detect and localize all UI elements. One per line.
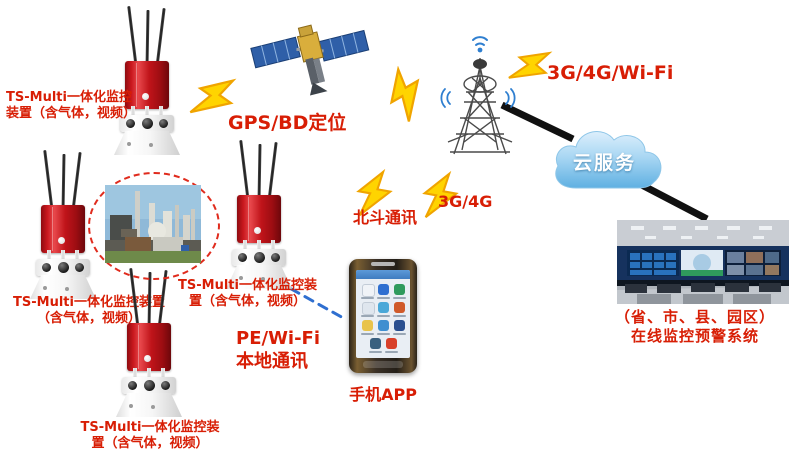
diagram-canvas: TS-Multi一体化监控 装置（含气体，视频） TS-Multi一体化监控装置… [0, 0, 797, 464]
app-label [361, 297, 374, 299]
device-top-left-label-line2: 装置（含气体，视频） [6, 106, 136, 122]
antenna-icon [147, 272, 151, 330]
device-mid-center-label-line1: TS-Multi一体化监控装 [160, 278, 335, 294]
satellite-icon [248, 12, 374, 96]
speaker-grille [371, 262, 395, 266]
control-room-label-line2: 在线监控预警系统 [600, 327, 790, 346]
antenna-icon [127, 6, 138, 68]
device-bottom-left [108, 268, 186, 416]
cloud-service-label: 云服务 [573, 148, 636, 175]
app-label [393, 315, 406, 317]
base-port [149, 143, 153, 147]
antenna-icon [257, 144, 261, 202]
app-icon[interactable] [370, 338, 381, 349]
app-icon[interactable] [362, 320, 373, 331]
sensor-lens [159, 119, 168, 128]
handheld-label: 手机APP [330, 385, 436, 405]
device-base [114, 131, 180, 155]
device-mid-center-label-line2: 置（含气体，视频） [160, 294, 335, 310]
base-port [127, 142, 131, 146]
app-label [393, 297, 406, 299]
camera-lens [254, 252, 265, 263]
housing-seam [52, 207, 53, 251]
device-mid-center [218, 140, 296, 288]
app-label [377, 333, 390, 335]
base-port [151, 405, 155, 409]
plant-photo [105, 185, 201, 263]
app-label [377, 315, 390, 317]
app-icon[interactable] [386, 338, 397, 349]
screen-statusbar [356, 270, 410, 279]
device-top-left-label-line1: TS-Multi一体化监控 [6, 90, 136, 106]
antenna-icon [61, 154, 65, 212]
wireless-link-label: 3G/4G/Wi-Fi [547, 62, 673, 86]
gps-link-label: GPS/BD定位 [228, 112, 346, 136]
antenna-icon [155, 8, 165, 68]
housing-seam [138, 325, 139, 369]
antenna-icon [267, 142, 277, 202]
app-icon[interactable] [394, 284, 405, 295]
mobile-link-label: 3G/4G [438, 192, 492, 212]
local-link-label-line1: PE/Wi-Fi [236, 328, 320, 351]
base-port [43, 286, 47, 290]
device-top-left [106, 6, 184, 154]
camera-lens [58, 262, 69, 273]
app-icon[interactable] [378, 284, 389, 295]
local-link-label-line2: 本地通讯 [236, 351, 320, 374]
antenna-icon [145, 10, 149, 68]
sensor-lens [42, 263, 51, 272]
antenna-icon [71, 152, 81, 212]
sensor-lens [238, 253, 247, 262]
device-red-housing [237, 195, 281, 243]
device-bottom-left-label-line2: 置（含气体，视频） [60, 436, 240, 452]
device-mid-center-label: TS-Multi一体化监控装 置（含气体，视频） [160, 278, 335, 311]
control-room-label: （省、市、县、园区） 在线监控预警系统 [600, 308, 790, 346]
camera-lens [144, 380, 155, 391]
control-room-label-line1: （省、市、县、园区） [600, 308, 790, 327]
sensor-lens [128, 381, 137, 390]
app-label [361, 315, 374, 317]
brand-logo [254, 227, 261, 234]
brand-logo [144, 355, 151, 362]
base-port [129, 404, 133, 408]
antenna-icon [239, 140, 250, 202]
housing-seam [248, 197, 249, 241]
sensor-lens [271, 253, 280, 262]
phone-bottom-bar [363, 361, 403, 368]
app-label [377, 297, 390, 299]
control-room-photo [617, 220, 789, 304]
handheld-terminal[interactable] [349, 259, 417, 373]
local-link-label: PE/Wi-Fi 本地通讯 [236, 328, 320, 373]
app-label [369, 351, 382, 353]
handheld-screen[interactable] [356, 270, 410, 358]
brand-logo [58, 237, 65, 244]
device-base [116, 393, 182, 417]
device-red-housing [41, 205, 85, 253]
brand-logo [142, 93, 149, 100]
antenna-icon [43, 150, 54, 212]
app-icon[interactable] [378, 302, 389, 313]
sensor-lens [75, 263, 84, 272]
device-red-housing [127, 323, 171, 371]
app-label [385, 351, 398, 353]
app-label [361, 333, 374, 335]
device-top-left-label: TS-Multi一体化监控 装置（含气体，视频） [6, 90, 136, 123]
bolt-satellite-downlink [378, 66, 434, 122]
device-bottom-left-label-line1: TS-Multi一体化监控装 [60, 420, 240, 436]
camera-lens [142, 118, 153, 129]
app-icon[interactable] [394, 302, 405, 313]
app-icon[interactable] [362, 302, 375, 315]
beidou-link-label: 北斗通讯 [353, 208, 417, 228]
app-icon[interactable] [362, 284, 375, 297]
housing-seam [136, 63, 137, 107]
base-port [65, 287, 69, 291]
sensor-lens [161, 381, 170, 390]
app-icon[interactable] [394, 320, 405, 331]
app-label [393, 333, 406, 335]
app-icon[interactable] [378, 320, 389, 331]
device-bottom-left-label: TS-Multi一体化监控装 置（含气体，视频） [60, 420, 240, 453]
